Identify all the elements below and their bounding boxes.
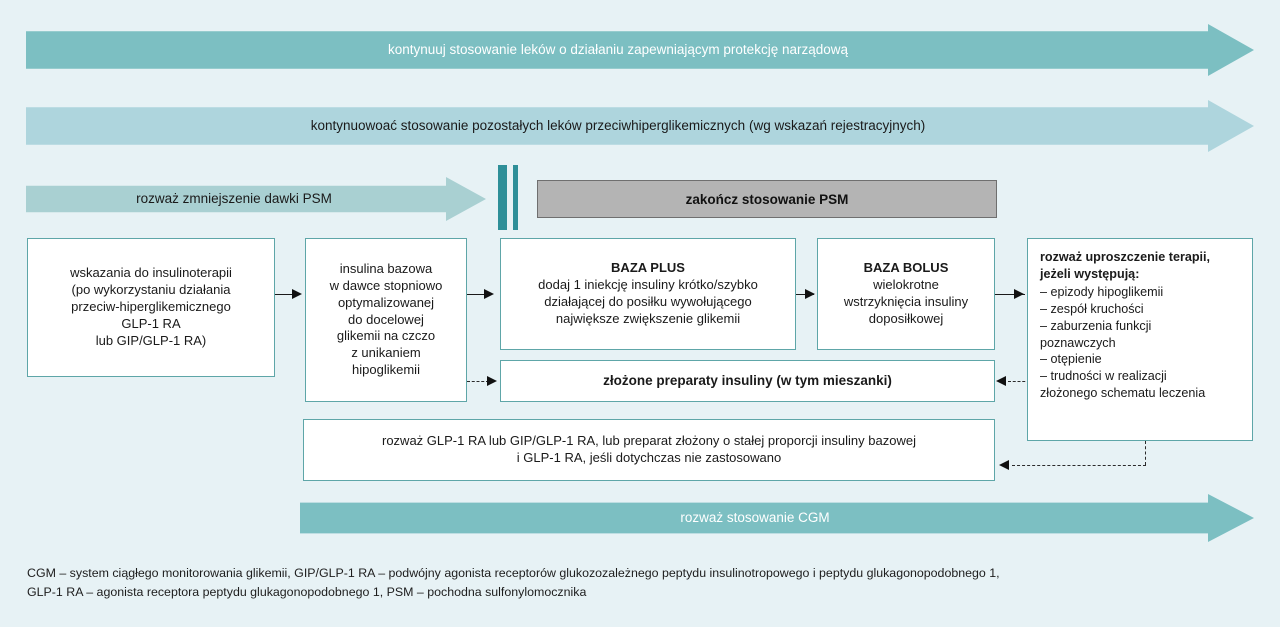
banner-other-drugs: kontynuowoać stosowanie pozostałych lekó… <box>26 100 1254 152</box>
baza-bolus-line-3: doposiłkowej <box>826 311 986 328</box>
basal-line-5: glikemii na czczo <box>314 328 458 345</box>
box-basal-insulin: insulina bazowa w dawce stopniowo optyma… <box>305 238 467 402</box>
baza-plus-line-1: dodaj 1 iniekcję insuliny krótko/szybko <box>509 277 787 294</box>
banner-other-drugs-label: kontynuowoać stosowanie pozostałych lekó… <box>301 118 980 135</box>
list-item: – otępienie <box>1040 351 1242 368</box>
list-item: złożonego schematu leczenia <box>1040 385 1242 402</box>
arrowhead-simplify-to-premixed <box>996 376 1006 386</box>
box-baza-bolus: BAZA BOLUS wielokrotne wstrzyknięcia ins… <box>817 238 995 350</box>
baza-plus-line-3: największe zwiększenie glikemii <box>509 311 787 328</box>
baza-bolus-line-2: wstrzyknięcia insuliny <box>826 294 986 311</box>
banner-organ-protection-label: kontynuuj stosowanie leków o działaniu z… <box>378 42 902 59</box>
baza-plus-title: BAZA PLUS <box>509 260 787 277</box>
banner-cgm-label: rozważ stosowanie CGM <box>670 510 883 527</box>
separator-bar-thin <box>513 165 518 230</box>
basal-line-1: insulina bazowa <box>314 261 458 278</box>
arrowhead-basal-to-premixed <box>487 376 497 386</box>
basal-line-6: z unikaniem <box>314 345 458 362</box>
indications-line-3: przeciw-hiperglikemicznego <box>36 299 266 316</box>
box-premixed-insulin: złożone preparaty insuliny (w tym miesza… <box>500 360 995 402</box>
banner-organ-protection: kontynuuj stosowanie leków o działaniu z… <box>26 24 1254 76</box>
box-stop-psm: zakończ stosowanie PSM <box>537 180 997 218</box>
arrowhead-baza-plus-to-bolus <box>805 289 815 299</box>
box-stop-psm-label: zakończ stosowanie PSM <box>686 192 849 207</box>
footnote-line-2: GLP-1 RA – agonista receptora peptydu gl… <box>27 583 1253 602</box>
arrowhead-bolus-to-simplify <box>1014 289 1024 299</box>
arrowhead-feedback-to-consider-glp1 <box>999 460 1009 470</box>
box-simplify-therapy: rozważ uproszczenie terapii, jeżeli wyst… <box>1027 238 1253 441</box>
feedback-line-vertical <box>1145 441 1146 465</box>
indications-line-2: (po wykorzystaniu działania <box>36 282 266 299</box>
simplify-lead-line-1: rozważ uproszczenie terapii, <box>1040 249 1242 266</box>
connector-basal-to-premixed <box>467 381 489 382</box>
connector-basal-to-baza-plus <box>467 294 485 295</box>
basal-line-2: w dawce stopniowo <box>314 278 458 295</box>
list-item: – trudności w realizacji <box>1040 368 1242 385</box>
consider-glp1-line-1: rozważ GLP-1 RA lub GIP/GLP-1 RA, lub pr… <box>312 433 986 450</box>
simplify-list: – epizody hipoglikemii – zespół kruchośc… <box>1040 284 1242 401</box>
arrowhead-basal-to-baza-plus <box>484 289 494 299</box>
banner-cgm: rozważ stosowanie CGM <box>300 494 1254 542</box>
arrowhead-indications-to-basal <box>292 289 302 299</box>
premixed-label: złożone preparaty insuliny (w tym miesza… <box>509 372 986 390</box>
basal-line-4: do docelowej <box>314 312 458 329</box>
feedback-line-horizontal <box>1012 465 1146 466</box>
flowchart-canvas: kontynuuj stosowanie leków o działaniu z… <box>0 0 1280 627</box>
separator-bar-thick <box>498 165 507 230</box>
indications-line-1: wskazania do insulinoterapii <box>36 265 266 282</box>
list-item: poznawczych <box>1040 335 1242 352</box>
list-item: – zespół kruchości <box>1040 301 1242 318</box>
baza-bolus-line-1: wielokrotne <box>826 277 986 294</box>
basal-line-7: hipoglikemii <box>314 362 458 379</box>
baza-plus-line-2: działającej do posiłku wywołującego <box>509 294 787 311</box>
connector-indications-to-basal <box>275 294 293 295</box>
baza-bolus-title: BAZA BOLUS <box>826 260 986 277</box>
simplify-lead-line-2: jeżeli występują: <box>1040 266 1242 283</box>
indications-line-5: lub GIP/GLP-1 RA) <box>36 333 266 350</box>
box-insulin-indications: wskazania do insulinoterapii (po wykorzy… <box>27 238 275 377</box>
indications-line-4: GLP-1 RA <box>36 316 266 333</box>
banner-reduce-psm-label: rozważ zmniejszenie dawki PSM <box>126 191 386 208</box>
footnote: CGM – system ciągłego monitorowania glik… <box>27 564 1253 602</box>
box-baza-plus: BAZA PLUS dodaj 1 iniekcję insuliny krót… <box>500 238 796 350</box>
list-item: – zaburzenia funkcji <box>1040 318 1242 335</box>
consider-glp1-line-2: i GLP-1 RA, jeśli dotychczas nie zastoso… <box>312 450 986 467</box>
box-consider-glp1: rozważ GLP-1 RA lub GIP/GLP-1 RA, lub pr… <box>303 419 995 481</box>
basal-line-3: optymalizowanej <box>314 295 458 312</box>
list-item: – epizody hipoglikemii <box>1040 284 1242 301</box>
banner-reduce-psm: rozważ zmniejszenie dawki PSM <box>26 177 486 221</box>
footnote-line-1: CGM – system ciągłego monitorowania glik… <box>27 564 1253 583</box>
